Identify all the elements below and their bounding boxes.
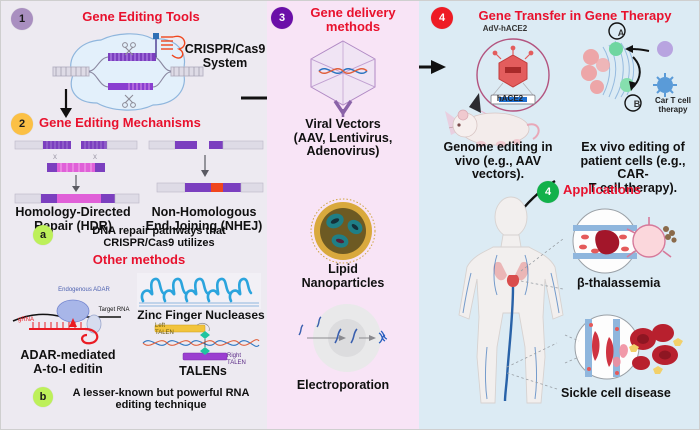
note-b-line-2: editing technique xyxy=(61,399,261,411)
nhej-schematic xyxy=(147,139,267,207)
exvivo-line-1: Ex vivo editing of xyxy=(567,141,699,155)
figure-root: 1 Gene Editing Tools xyxy=(0,0,700,430)
title-gene-editing-mechanisms: Gene Editing Mechanisms xyxy=(39,116,263,130)
lnp-line-1: Lipid xyxy=(269,263,417,277)
adar-line-1: ADAR-mediated xyxy=(7,349,129,363)
panel-gene-editing-tools: 1 Gene Editing Tools xyxy=(1,1,267,429)
title-gene-editing-tools: Gene Editing Tools xyxy=(41,10,241,24)
note-b-line-1: A lesser-known but powerful RNA xyxy=(61,387,261,399)
delivery-title-line-1: Gene delivery xyxy=(295,6,411,20)
label-in-vivo-editing: Genome editing in vivo (e.g., AAV vector… xyxy=(425,141,571,182)
viral-line-3: Adenovirus) xyxy=(269,145,417,159)
note-a-line-1: DNA repair pathways that xyxy=(59,225,259,237)
note-b: A lesser-known but powerful RNA editing … xyxy=(61,387,261,411)
marker-a: A xyxy=(615,29,627,39)
zinc-finger-illustration xyxy=(137,273,261,309)
panel-gene-delivery-methods: 3 Gene delivery methods xyxy=(267,1,419,429)
talens-illustration: Left TALEN Right TALEN xyxy=(141,323,261,365)
invivo-line-1: Genome editing in xyxy=(425,141,571,155)
beta-thalassemia-inset xyxy=(565,207,677,279)
label-endogenous-adar: Endogenous ADAR xyxy=(49,287,119,294)
label-left-talen: Left TALEN xyxy=(155,323,181,336)
viral-vector-illustration xyxy=(301,39,385,117)
viral-line-2: (AAV, Lentivirus, xyxy=(269,132,417,146)
badge-4: 4 xyxy=(431,7,453,29)
delivery-title-line-2: methods xyxy=(295,20,411,34)
label-adar-mediated: ADAR-mediated A-to-I editin xyxy=(7,349,129,376)
label-car-t-cell-therapy: Car T cell therapy xyxy=(645,97,699,115)
label-target-rna: Target RNA xyxy=(93,307,135,314)
arrow-tools-to-delivery xyxy=(241,87,267,109)
invivo-line-2: vivo (e.g., AAV xyxy=(425,155,571,169)
badge-a: a xyxy=(33,225,53,245)
sickle-cell-inset xyxy=(565,311,689,387)
cart-line-2: therapy xyxy=(645,106,699,115)
title-other-methods: Other methods xyxy=(59,253,219,267)
label-talens: TALENs xyxy=(151,365,255,379)
note-a-line-2: CRISPR/Cas9 utilizes xyxy=(59,237,259,249)
lipid-nanoparticle-illustration xyxy=(309,197,377,265)
svg-text:x: x xyxy=(93,152,97,161)
badge-b: b xyxy=(33,387,53,407)
label-crispr-cas9: CRISPR/Cas9 System xyxy=(181,43,267,70)
lnp-line-2: Nanoparticles xyxy=(269,277,417,291)
label-sickle-cell-disease: Sickle cell disease xyxy=(561,387,699,401)
human-body-illustration xyxy=(451,197,571,413)
hdr-line-1: Homology-Directed xyxy=(9,206,137,220)
label-beta-thalassemia: β-thalassemia xyxy=(577,277,697,291)
nhej-line-1: Non-Homologous xyxy=(141,206,267,220)
svg-text:x: x xyxy=(53,152,57,161)
hdr-schematic: x x xyxy=(13,139,141,207)
marker-b: B xyxy=(631,100,643,110)
crispr-line-2: System xyxy=(181,57,267,71)
title-gene-delivery-methods: Gene delivery methods xyxy=(295,6,411,34)
adar-line-2: A-to-I editin xyxy=(7,363,129,377)
panel-gene-transfer-therapy: 4 Gene Transfer in Gene Therapy AdV-hACE… xyxy=(419,1,699,429)
badge-1: 1 xyxy=(11,8,33,30)
title-applications: Applications xyxy=(563,183,683,197)
label-zinc-finger-nucleases: Zinc Finger Nucleases xyxy=(135,309,267,322)
badge-3: 3 xyxy=(271,7,293,29)
label-electroporation: Electroporation xyxy=(269,379,417,393)
exvivo-line-2: patient cells (e.g., CAR- xyxy=(567,155,699,182)
viral-line-1: Viral Vectors xyxy=(269,118,417,132)
title-gene-transfer: Gene Transfer in Gene Therapy xyxy=(455,9,695,23)
arrow-delivery-to-therapy xyxy=(419,57,447,77)
label-viral-vectors: Viral Vectors (AAV, Lentivirus, Adenovir… xyxy=(269,118,417,159)
note-a: DNA repair pathways that CRISPR/Cas9 uti… xyxy=(59,225,259,249)
electroporation-illustration xyxy=(291,301,395,375)
crispr-line-1: CRISPR/Cas9 xyxy=(181,43,267,57)
badge-2: 2 xyxy=(11,113,33,135)
label-grna: gRNA xyxy=(13,317,39,324)
label-lipid-nanoparticles: Lipid Nanoparticles xyxy=(269,263,417,290)
